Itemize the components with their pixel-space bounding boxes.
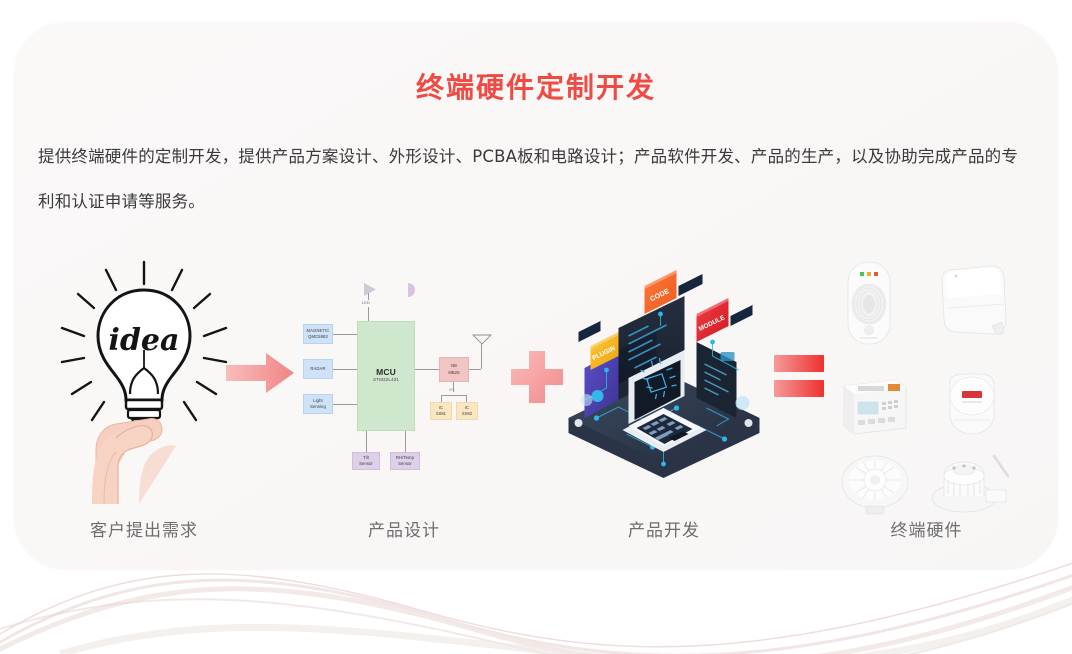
block-nb-line2: MB26 [448,370,459,376]
block-magnetic: MAGNETIC QMC5883 [303,324,333,344]
block-magnetic-line2: QMC5883 [308,334,328,340]
antenna-icon [472,334,492,345]
wire-antenna-h [469,369,481,370]
sim-bus-label: SPI [449,388,454,392]
wire-light [333,404,357,405]
arrow-right-icon [224,349,296,397]
block-sim1-line2: SIM1 [436,411,446,417]
block-sim2-line2: SIM2 [462,411,472,417]
block-rh-temp-sensor: RH/Temp Sensor [390,452,420,470]
block-radar: RADAR [303,359,333,379]
wire-magnetic [333,334,357,335]
block-mcu-name: MCU [376,369,396,375]
led-label: LED [362,300,370,305]
hardware-block-diagram: LED MCU STM32L431 MAGNETIC QMC5883 [300,280,508,480]
flow-stage-label-product-design: 产品设计 [294,516,514,541]
block-nb-module: NB MB26 [439,357,469,382]
wire-radar [333,369,357,370]
description-paragraph: 提供终端硬件的定制开发，提供产品方案设计、外形设计、PCBA板和电路设计；产品软… [38,134,1034,224]
product-door-window-sensor [932,264,1014,340]
flow-stage-product-development: PLUGIN CODE MODULE [554,254,774,541]
product-smart-valve-actuator [924,450,1018,516]
flow-stage-label-customer-requirement: 客户提出需求 [34,516,254,541]
product-grid [832,258,1022,508]
content-card: 终端硬件定制开发 提供终端硬件的定制开发，提供产品方案设计、外形设计、PCBA板… [14,22,1058,570]
block-tilt-sensor: Tilt Sensor [352,452,380,470]
products-illustration [814,254,1039,516]
idea-text: idea [109,323,180,358]
connector-arrow [224,349,296,402]
led-connector [368,293,369,300]
block-sim1: IC SIM1 [430,402,452,420]
block-light-line2: Sensing [310,404,326,410]
wire-tilt [366,431,367,452]
led-indicator-icon [360,280,430,300]
flow-stage-customer-requirement: idea 客户提出需求 [34,254,254,541]
dev-card-module: MODULE [697,298,729,342]
wire-sim2 [466,395,467,402]
product-smoke-detector-wall [838,260,900,346]
page-title: 终端硬件定制开发 [14,66,1058,106]
block-mcu: MCU STM32L431 [357,321,415,431]
development-illustration: PLUGIN CODE MODULE [554,254,774,516]
hand-holding-lightbulb-icon: idea [44,254,244,504]
block-radar-line1: RADAR [310,366,325,372]
block-sim2: IC SIM2 [456,402,478,420]
process-flow: idea 客户提出需求 [14,254,1058,574]
idea-illustration: idea [34,254,254,516]
block-mcu-part: STM32L431 [373,377,399,383]
isometric-laptop-icon: PLUGIN CODE MODULE [557,268,772,483]
block-diagram-illustration: LED MCU STM32L431 MAGNETIC QMC5883 [294,254,514,516]
wire-mcu-nb [415,369,439,370]
flow-stage-product-design: LED MCU STM32L431 MAGNETIC QMC5883 [294,254,514,541]
flow-stage-terminal-hardware: 终端硬件 [814,254,1039,541]
led-connector-2 [368,307,369,321]
block-tilt-line2: Sensor [359,461,373,467]
product-round-panel-sensor [936,372,1006,440]
wire-sim-split [441,395,466,396]
block-light-sensing: Light Sensing [303,394,333,414]
flow-stage-label-terminal-hardware: 终端硬件 [814,516,1039,541]
product-ceiling-alarm [838,454,912,516]
block-rhtemp-line2: Sensor [398,461,412,467]
flow-stage-label-product-development: 产品开发 [554,516,774,541]
product-din-rail-controller [834,376,912,440]
wire-antenna-v [481,343,482,369]
wire-rhtemp [405,431,406,452]
wire-sim1 [441,395,442,402]
